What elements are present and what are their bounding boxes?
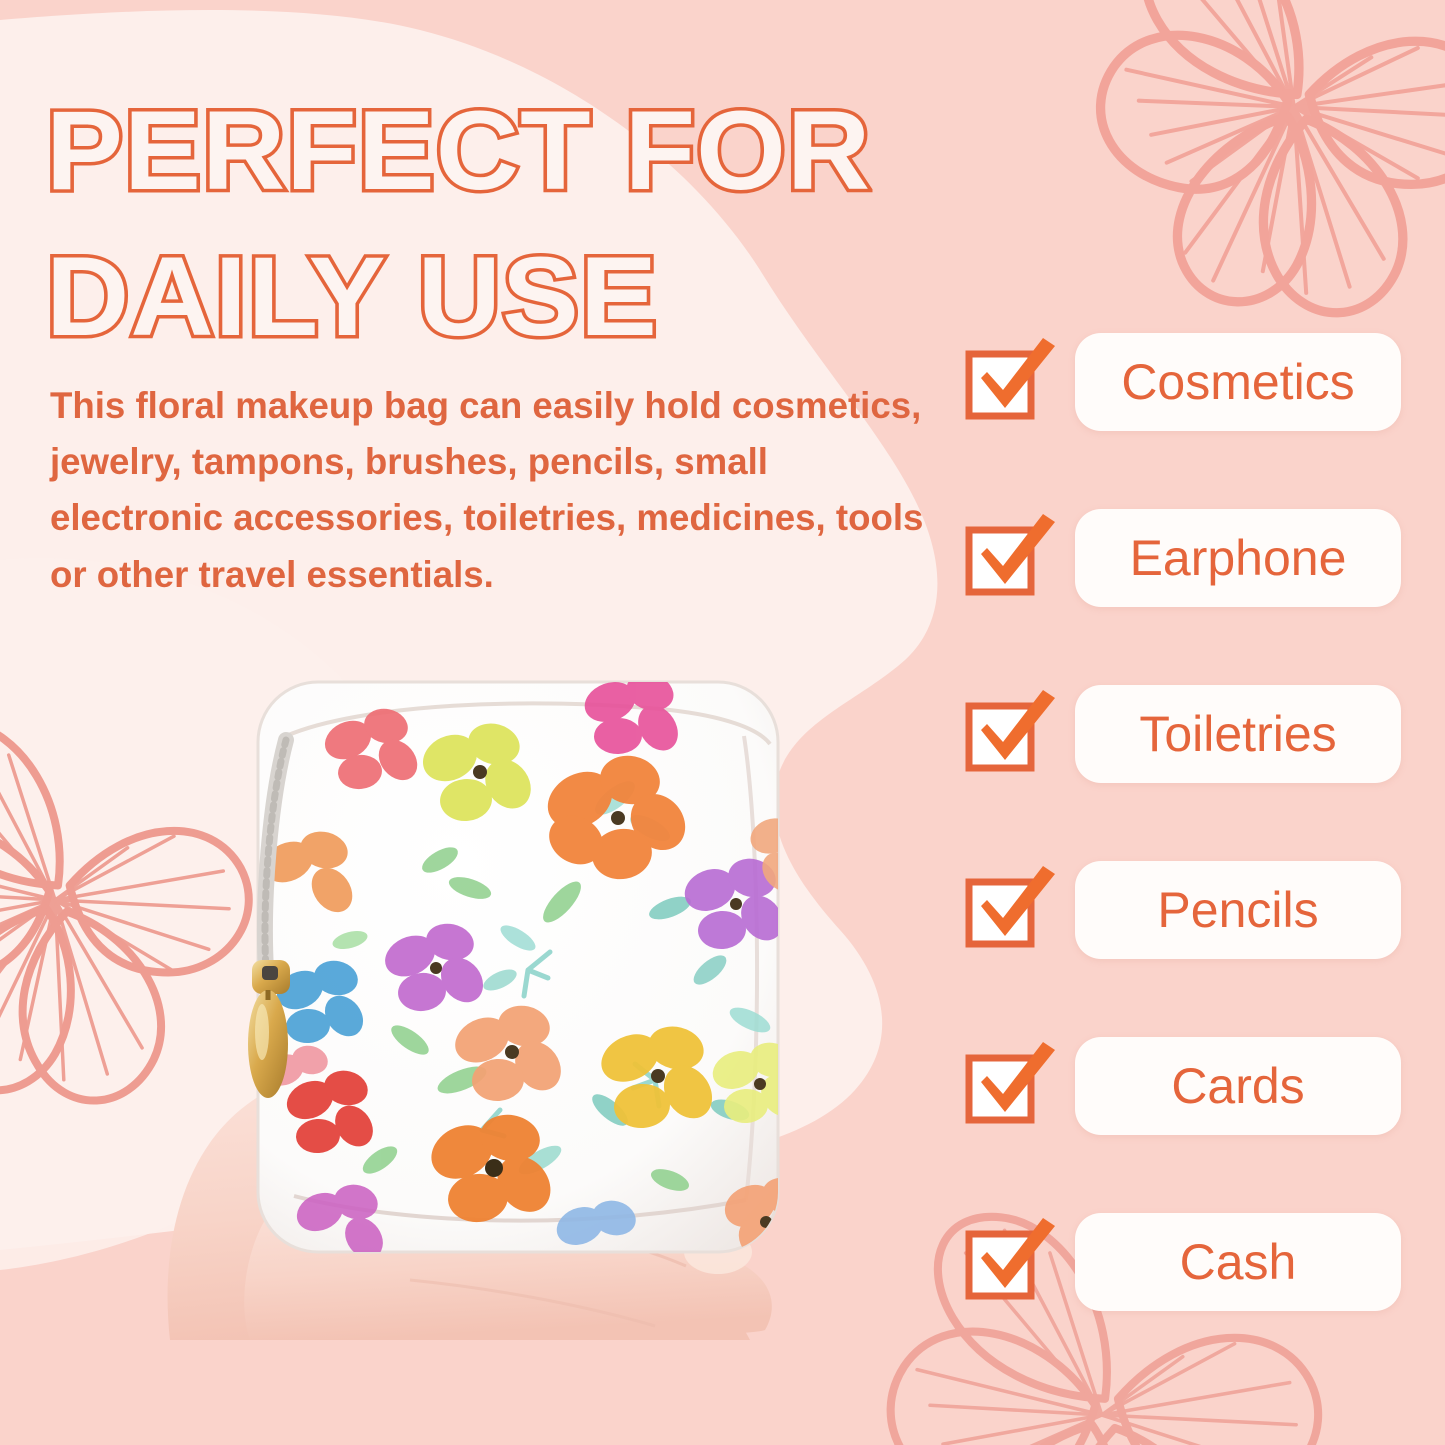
feature-pill[interactable]: Cards xyxy=(1075,1037,1401,1135)
zipper-pull-icon[interactable] xyxy=(248,960,290,1098)
list-item-label: Cards xyxy=(1171,1057,1304,1115)
feature-pill[interactable]: Pencils xyxy=(1075,861,1401,959)
checked-checkbox-icon[interactable] xyxy=(963,334,1059,430)
list-item[interactable]: Pencils xyxy=(963,858,1413,1034)
list-item-label: Cash xyxy=(1180,1233,1297,1291)
list-item-label: Toiletries xyxy=(1139,705,1336,763)
makeup-pouch xyxy=(248,667,814,1270)
page-title-line-2: DAILY USE xyxy=(46,224,1035,370)
page-title: PERFECT FOR DAILY USE xyxy=(46,78,1006,369)
list-item[interactable]: Cards xyxy=(963,1034,1413,1210)
infographic-canvas: PERFECT FOR DAILY USE This floral makeup… xyxy=(0,0,1445,1445)
feature-checklist: Cosmetics Earphone Toiletries xyxy=(963,330,1413,1386)
list-item[interactable]: Toiletries xyxy=(963,682,1413,858)
list-item-label: Cosmetics xyxy=(1121,353,1354,411)
page-title-line-1: PERFECT FOR xyxy=(46,78,1035,224)
feature-pill[interactable]: Toiletries xyxy=(1075,685,1401,783)
list-item[interactable]: Earphone xyxy=(963,506,1413,682)
list-item-label: Pencils xyxy=(1157,881,1318,939)
feature-pill[interactable]: Earphone xyxy=(1075,509,1401,607)
checked-checkbox-icon[interactable] xyxy=(963,510,1059,606)
description-paragraph: This floral makeup bag can easily hold c… xyxy=(50,378,941,603)
checked-checkbox-icon[interactable] xyxy=(963,1038,1059,1134)
list-item[interactable]: Cash xyxy=(963,1210,1413,1386)
checked-checkbox-icon[interactable] xyxy=(963,1214,1059,1310)
feature-pill[interactable]: Cash xyxy=(1075,1213,1401,1311)
list-item[interactable]: Cosmetics xyxy=(963,330,1413,506)
list-item-label: Earphone xyxy=(1130,529,1347,587)
checked-checkbox-icon[interactable] xyxy=(963,862,1059,958)
checked-checkbox-icon[interactable] xyxy=(963,686,1059,782)
feature-pill[interactable]: Cosmetics xyxy=(1075,333,1401,431)
product-photo xyxy=(110,640,890,1340)
